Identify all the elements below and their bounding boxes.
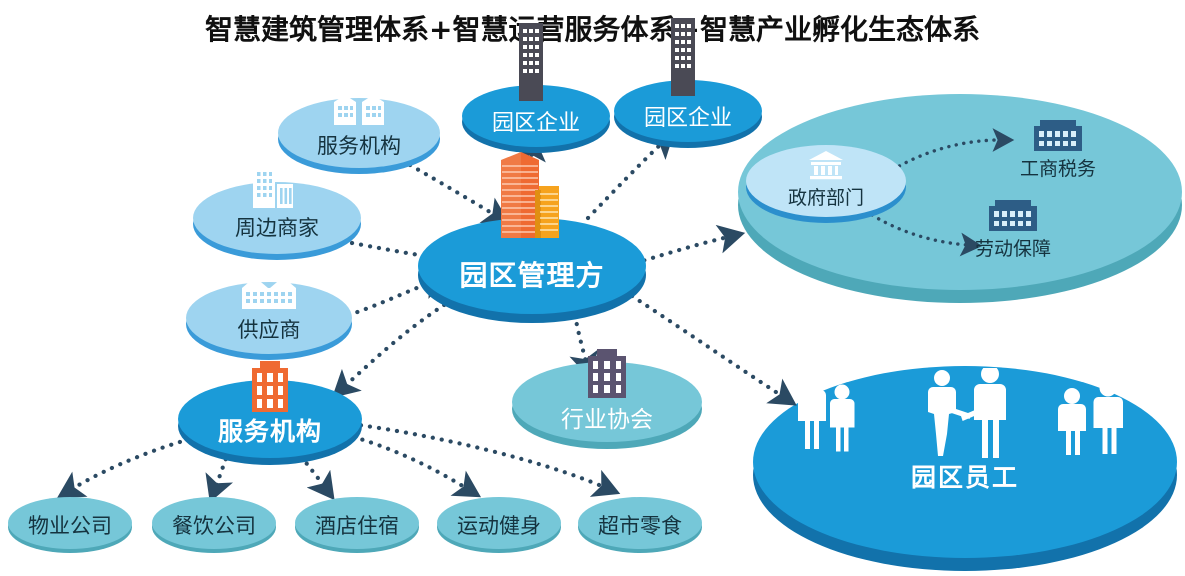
node-enterprise-1[interactable]: 园区企业 <box>462 85 610 147</box>
dark-tower-icon <box>667 18 699 96</box>
node-label: 劳动保障 <box>958 234 1068 261</box>
orange-building-icon <box>248 360 292 412</box>
diagram-canvas: 智慧建筑管理体系+智慧运营服务体系+智慧产业孵化生态体系 <box>0 0 1185 576</box>
node-bottom-service-5[interactable]: 超市零食 <box>578 497 702 549</box>
node-employees[interactable]: 园区员工 <box>845 458 1085 494</box>
node-label: 工商税务 <box>1003 154 1113 181</box>
white-office-icon <box>251 168 295 208</box>
navy-building-icon <box>987 198 1039 232</box>
purple-building-icon <box>584 348 630 398</box>
node-industry-association[interactable]: 行业协会 <box>512 362 702 442</box>
white-campus-icon <box>332 94 386 126</box>
node-bottom-service-3[interactable]: 酒店住宿 <box>295 497 419 549</box>
orange-buildings-icon <box>491 146 565 248</box>
node-nearby-merchants[interactable]: 周边商家 <box>193 182 361 254</box>
node-gov-labor[interactable]: 劳动保障 <box>958 198 1068 264</box>
node-gov-tax[interactable]: 工商税务 <box>1003 118 1113 184</box>
node-bottom-service-4[interactable]: 运动健身 <box>437 497 561 549</box>
node-bottom-service-1[interactable]: 物业公司 <box>8 497 132 549</box>
node-service-org-bottom[interactable]: 服务机构 <box>178 380 362 458</box>
dark-tower-icon <box>515 23 547 101</box>
node-supplier[interactable]: 供应商 <box>186 282 352 354</box>
white-twin-house-icon <box>241 276 297 310</box>
node-service-org-top[interactable]: 服务机构 <box>278 98 440 168</box>
node-gov-dept[interactable]: 政府部门 <box>746 145 906 217</box>
navy-building-icon <box>1032 118 1084 152</box>
node-park-management[interactable]: 园区管理方 <box>418 218 646 314</box>
node-label: 园区员工 <box>845 458 1085 494</box>
node-bottom-service-2[interactable]: 餐饮公司 <box>152 497 276 549</box>
node-enterprise-2[interactable]: 园区企业 <box>614 80 762 142</box>
bank-icon <box>808 150 844 180</box>
